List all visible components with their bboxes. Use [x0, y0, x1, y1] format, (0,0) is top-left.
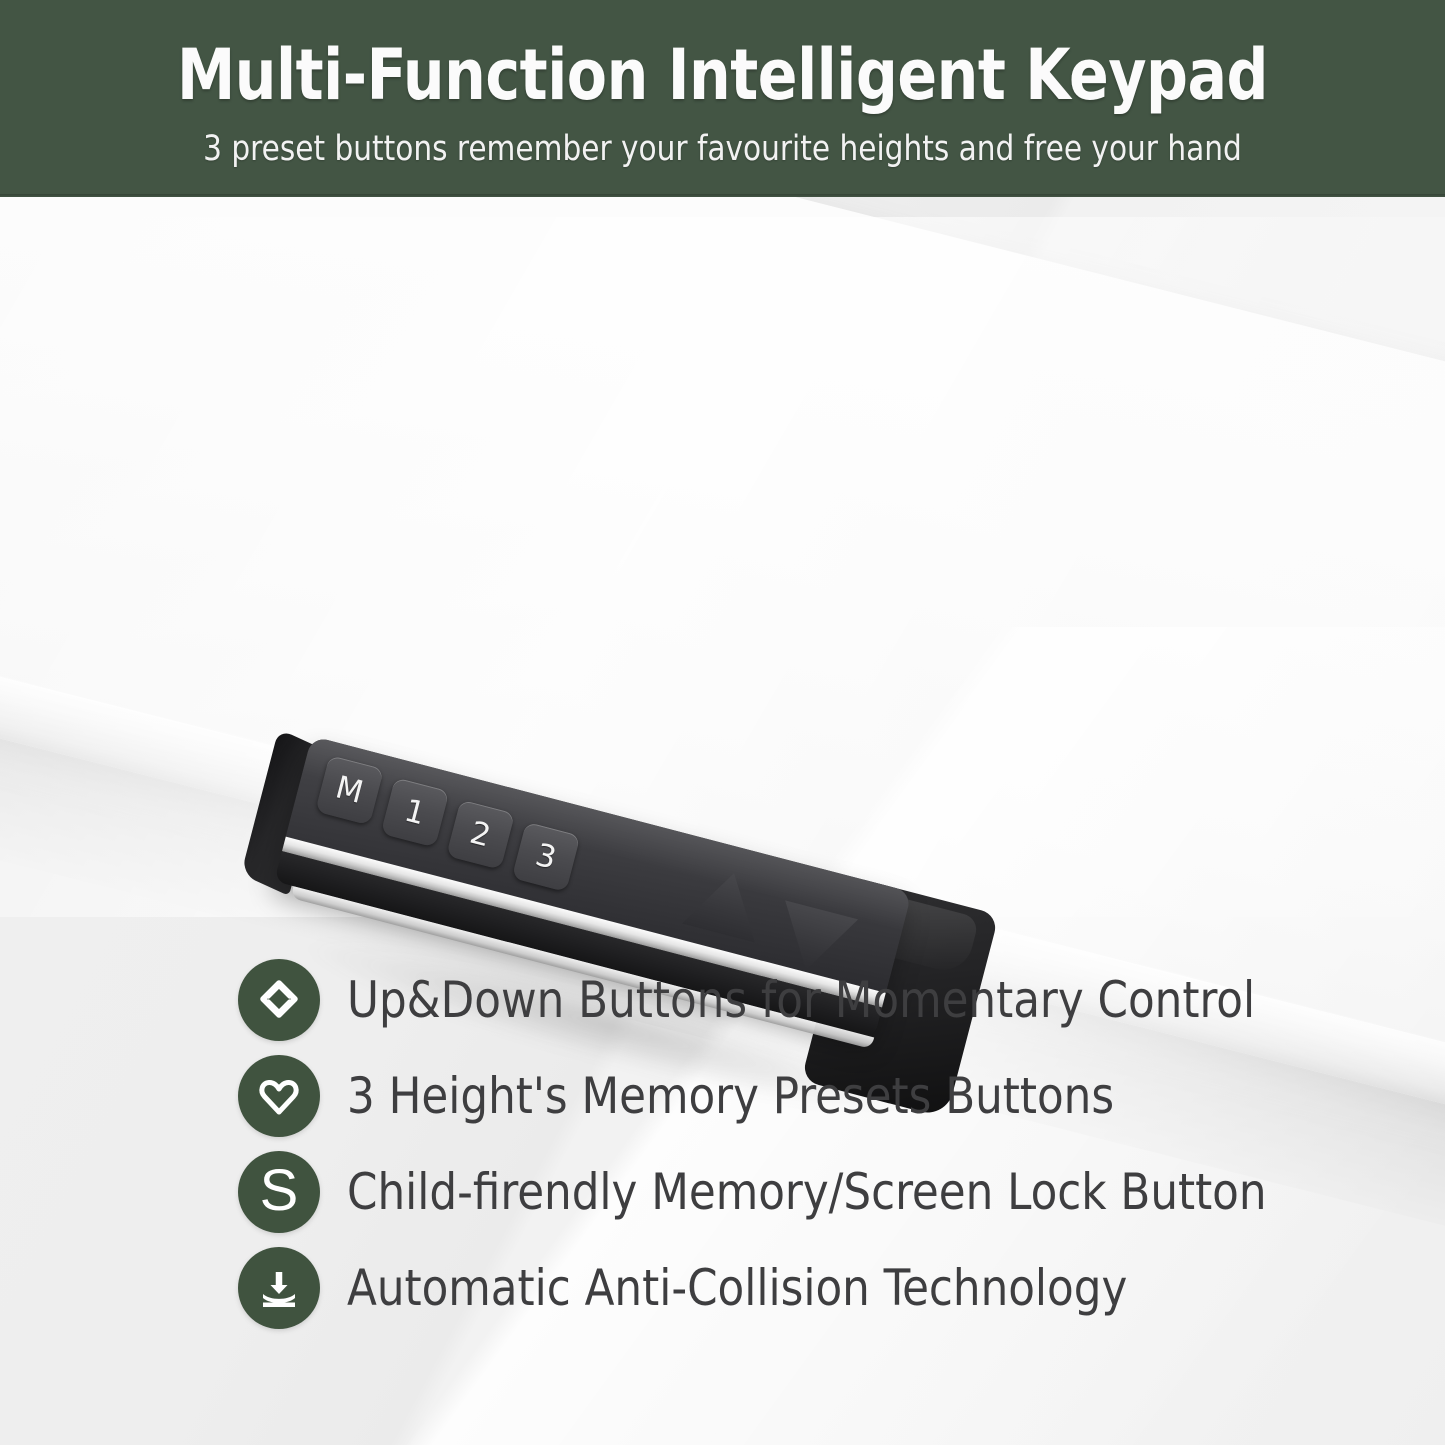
- page-subtitle: 3 preset buttons remember your favourite…: [43, 129, 1401, 169]
- letter-s-icon: S: [238, 1151, 320, 1233]
- header-banner: Multi-Function Intelligent Keypad 3 pres…: [0, 0, 1445, 197]
- product-feature-image: M 1 2 3: [0, 0, 1445, 1445]
- feature-row-anticollision: Automatic Anti-Collision Technology: [238, 1240, 1398, 1336]
- desk-surface-highlight: [0, 197, 1445, 548]
- feature-row-memory: 3 Height's Memory Presets Buttons: [238, 1048, 1398, 1144]
- feature-label: Child-firendly Memory/Screen Lock Button: [347, 1167, 1267, 1217]
- heart-icon: [238, 1055, 320, 1137]
- letter-s-glyph: S: [260, 1162, 299, 1220]
- page-title: Multi-Function Intelligent Keypad: [51, 34, 1395, 116]
- anti-collision-icon: [238, 1247, 320, 1329]
- feature-row-lock: S Child-firendly Memory/Screen Lock Butt…: [238, 1144, 1398, 1240]
- feature-row-updown: Up&Down Buttons for Momentary Control: [238, 952, 1398, 1048]
- feature-label: 3 Height's Memory Presets Buttons: [347, 1071, 1114, 1121]
- feature-label: Automatic Anti-Collision Technology: [347, 1263, 1127, 1313]
- updown-diamond-icon: [238, 959, 320, 1041]
- feature-label: Up&Down Buttons for Momentary Control: [347, 975, 1255, 1025]
- feature-list: Up&Down Buttons for Momentary Control 3 …: [238, 952, 1398, 1336]
- product-photo: M 1 2 3: [0, 197, 1445, 1445]
